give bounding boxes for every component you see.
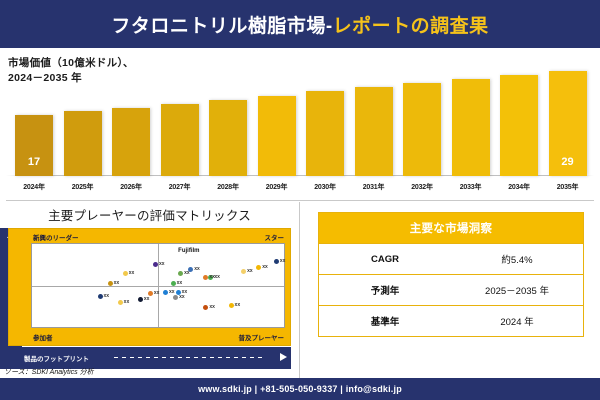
- insights-header: 主要な市場洞察: [319, 213, 584, 244]
- matrix-data-point: [274, 259, 279, 264]
- page-header: フタロニトリル樹脂市場-レポートの調査果: [0, 0, 600, 48]
- insight-key: 基準年: [319, 306, 452, 337]
- insight-key: 予測年: [319, 275, 452, 306]
- matrix-data-point-label: xx: [159, 261, 165, 267]
- bar-slot: [255, 96, 299, 176]
- matrix-data-point-label: xx: [184, 270, 190, 276]
- matrix-chart-box: 新興のリーダー スター 参加者 普及プレーヤー Fujifilm xxxxxxx…: [8, 228, 291, 346]
- table-row: 予測年2025－2035 年: [319, 275, 584, 306]
- player-matrix-panel: 主要プレーヤーの評価マトリックス 市場シェア・存在感 新興のリーダー スター 参…: [0, 200, 299, 378]
- matrix-title: 主要プレーヤーの評価マトリックス: [0, 205, 299, 224]
- page-title-accent: レポートの調査果: [333, 16, 489, 37]
- matrix-data-point-label: xx: [124, 299, 130, 305]
- matrix-data-point: [229, 303, 234, 308]
- x-axis-dashed-line: [114, 357, 264, 358]
- matrix-data-point-label: xx: [129, 270, 135, 276]
- matrix-data-point: [108, 281, 113, 286]
- matrix-x-axis-label: 製品のフットプリント: [24, 353, 89, 363]
- quadrant-label-bottom-left: 参加者: [33, 332, 53, 342]
- bar-slot: 17: [12, 115, 56, 176]
- market-value-bar-chart: 市場価値（10億米ドル）、 2024－2035 年 172024年2025年20…: [0, 48, 600, 200]
- matrix-data-point-label: xx: [114, 280, 120, 286]
- x-axis-tick-label: 2035年: [546, 182, 590, 192]
- matrix-data-point-label: xx: [104, 293, 110, 299]
- chart-bar: [355, 87, 393, 176]
- matrix-data-point-label: xx: [177, 280, 183, 286]
- matrix-data-point: [98, 294, 103, 299]
- bar-slot: [206, 100, 250, 176]
- matrix-data-point: [123, 271, 128, 276]
- matrix-scatter-area: Fujifilm xxxxxxxxxxxxxxxxxxxxxxxxxxxxxxx…: [31, 243, 285, 328]
- matrix-data-point: [173, 295, 178, 300]
- matrix-data-point: [138, 297, 143, 302]
- bar-slot: [400, 83, 444, 176]
- matrix-data-point: [163, 290, 168, 295]
- quadrant-divider-horizontal: [32, 286, 284, 287]
- matrix-data-point: [203, 305, 208, 310]
- highlight-company-label: Fujifilm: [178, 248, 199, 254]
- matrix-data-point-label: xx: [235, 302, 241, 308]
- bar-slot: [497, 75, 541, 176]
- insight-value: 約5.4%: [451, 244, 584, 275]
- chart-bar: [500, 75, 538, 176]
- quadrant-label-top-right: スター: [265, 232, 285, 242]
- quadrant-label-top-left: 新興のリーダー: [33, 232, 79, 242]
- matrix-data-point-label: xx: [214, 274, 220, 280]
- x-axis-tick-label: 2031年: [352, 182, 396, 192]
- bar-slot: [352, 87, 396, 176]
- chart-bar: [306, 91, 344, 176]
- x-axis-tick-label: 2030年: [303, 182, 347, 192]
- matrix-data-point-label: xx: [280, 258, 286, 264]
- matrix-data-point-label: xx: [194, 266, 200, 272]
- bar-slot: [303, 91, 347, 176]
- insight-value: 2025－2035 年: [451, 275, 584, 306]
- chart-bar: 17: [15, 115, 53, 176]
- chart-bar: [112, 108, 150, 176]
- footer-contact-text: www.sdki.jp | +81-505-050-9337 | info@sd…: [198, 384, 402, 394]
- insight-key: CAGR: [319, 244, 452, 275]
- chart-plot-area: 172024年2025年2026年2027年2028年2029年2030年203…: [0, 48, 600, 200]
- chart-bar: [161, 104, 199, 176]
- x-axis-tick-label: 2033年: [449, 182, 493, 192]
- chart-bar: [403, 83, 441, 176]
- bar-value-label: 17: [15, 156, 53, 168]
- page-title-primary: フタロニトリル樹脂市場-: [111, 16, 332, 37]
- x-axis-tick-label: 2029年: [255, 182, 299, 192]
- chart-bar: [258, 96, 296, 176]
- source-note: ソース：SDKI Analytics 分析: [4, 367, 94, 377]
- arrow-right-icon: [280, 353, 287, 361]
- matrix-data-point-label: xx: [247, 268, 253, 274]
- x-axis-tick-label: 2028年: [206, 182, 250, 192]
- matrix-data-point: [256, 265, 261, 270]
- chart-bar: 29: [549, 71, 587, 176]
- bar-slot: [109, 108, 153, 176]
- page-title: フタロニトリル樹脂市場-レポートの調査果: [111, 11, 488, 38]
- x-axis-tick-label: 2026年: [109, 182, 153, 192]
- table-row: 基準年2024 年: [319, 306, 584, 337]
- table-row: CAGR約5.4%: [319, 244, 584, 275]
- matrix-data-point-label: xx: [179, 294, 185, 300]
- matrix-data-point: [171, 281, 176, 286]
- x-axis-tick-label: 2032年: [400, 182, 444, 192]
- bottom-section: 主要プレーヤーの評価マトリックス 市場シェア・存在感 新興のリーダー スター 参…: [0, 200, 600, 378]
- report-infographic: フタロニトリル樹脂市場-レポートの調査果 市場価値（10億米ドル）、 2024－…: [0, 0, 600, 400]
- chart-bar: [64, 111, 102, 176]
- bar-slot: 29: [546, 71, 590, 176]
- quadrant-label-bottom-right: 普及プレーヤー: [239, 332, 285, 342]
- matrix-data-point: [241, 269, 246, 274]
- matrix-data-point-label: xx: [144, 296, 150, 302]
- chart-bar: [209, 100, 247, 176]
- insight-value: 2024 年: [451, 306, 584, 337]
- matrix-data-point-label: xx: [262, 264, 268, 270]
- bar-slot: [449, 79, 493, 176]
- matrix-data-point-label: xx: [209, 274, 215, 280]
- page-footer: www.sdki.jp | +81-505-050-9337 | info@sd…: [0, 378, 600, 400]
- key-insights-panel: 主要な市場洞察 CAGR約5.4%予測年2025－2035 年基準年2024 年: [300, 200, 600, 378]
- matrix-data-point: [178, 271, 183, 276]
- bar-slot: [158, 104, 202, 176]
- insights-table: 主要な市場洞察 CAGR約5.4%予測年2025－2035 年基準年2024 年: [318, 212, 584, 337]
- x-axis-tick-label: 2027年: [158, 182, 202, 192]
- matrix-data-point-label: xx: [154, 290, 160, 296]
- matrix-data-point: [118, 300, 123, 305]
- x-axis-tick-label: 2024年: [12, 182, 56, 192]
- matrix-x-axis: 製品のフットプリント: [8, 347, 291, 369]
- chart-bar: [452, 79, 490, 176]
- x-axis-tick-label: 2034年: [497, 182, 541, 192]
- bar-value-label: 29: [549, 156, 587, 168]
- x-axis-tick-label: 2025年: [61, 182, 105, 192]
- matrix-data-point-label: xx: [209, 304, 215, 310]
- bar-slot: [61, 111, 105, 176]
